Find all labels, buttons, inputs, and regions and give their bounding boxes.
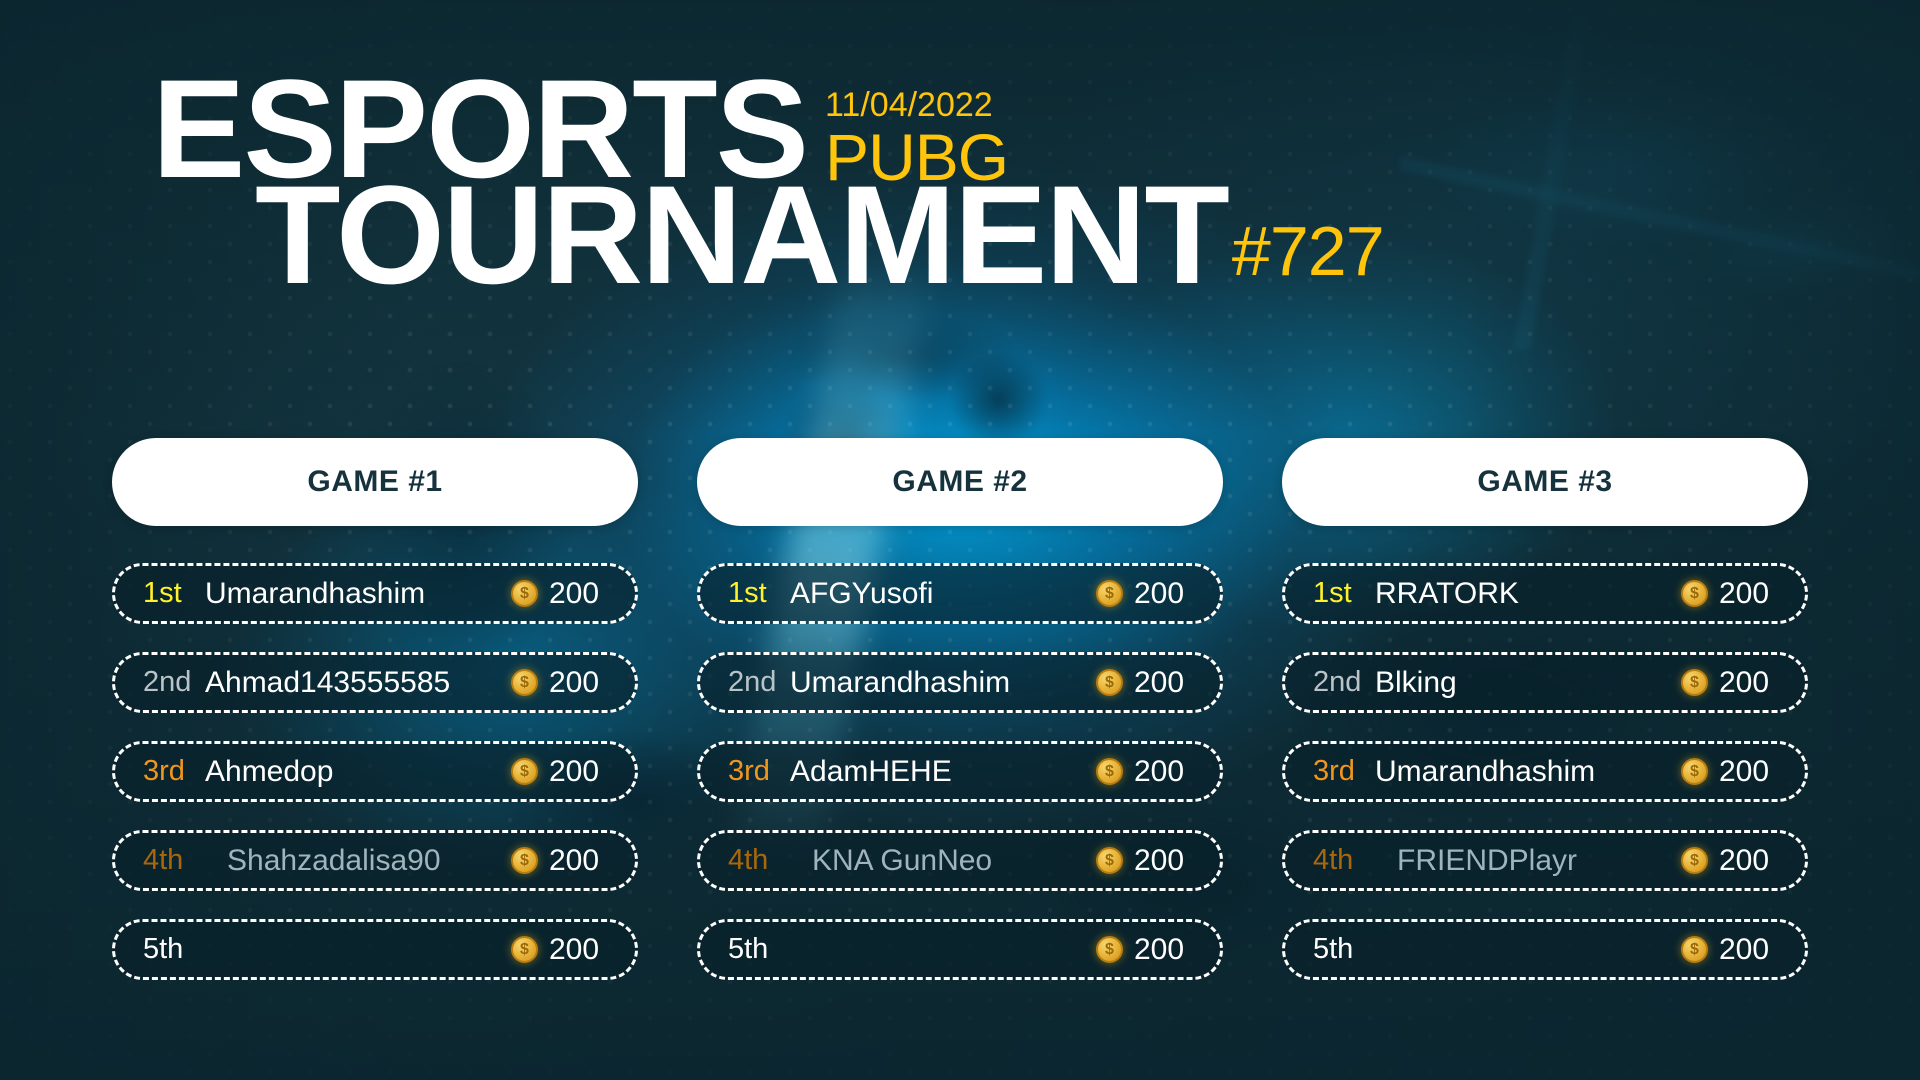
rank-label: 4th <box>728 844 790 877</box>
coin-dollar-icon: $ <box>1096 936 1123 963</box>
leaderboard-row[interactable]: 1stUmarandhashim$200 <box>112 563 638 624</box>
coin-glyph: $ <box>520 853 529 869</box>
coin-glyph: $ <box>1690 586 1699 602</box>
game-header-pill-1[interactable]: GAME #1 <box>112 438 638 526</box>
game-header-label: GAME #2 <box>892 465 1027 499</box>
player-name: Blking <box>1375 666 1681 700</box>
player-name: KNA GunNeo <box>790 844 1096 878</box>
poster-header: ESPORTS 11/04/2022 PUBG TOURNAMENT #727 <box>0 0 1920 360</box>
prize-amount: 200 <box>1719 666 1779 700</box>
coin-glyph: $ <box>1690 675 1699 691</box>
game-header-label: GAME #1 <box>307 465 442 499</box>
coin-dollar-icon: $ <box>511 580 538 607</box>
rank-label: 3rd <box>143 755 205 788</box>
leaderboard-row[interactable]: 2ndBlking$200 <box>1282 652 1808 713</box>
player-name: Umarandhashim <box>1375 755 1681 789</box>
player-name: RRATORK <box>1375 577 1681 611</box>
player-name: FRIENDPlayr <box>1375 844 1681 878</box>
leaderboard-row[interactable]: 2ndUmarandhashim$200 <box>697 652 1223 713</box>
coin-glyph: $ <box>1105 675 1114 691</box>
rank-label: 3rd <box>728 755 790 788</box>
leaderboard-row[interactable]: 3rdUmarandhashim$200 <box>1282 741 1808 802</box>
coin-glyph: $ <box>1105 853 1114 869</box>
coin-dollar-icon: $ <box>1096 847 1123 874</box>
prize-group: $200 <box>1681 577 1779 611</box>
prize-group: $200 <box>1681 755 1779 789</box>
rank-label: 2nd <box>728 666 790 699</box>
rank-label: 1st <box>728 577 790 610</box>
coin-glyph: $ <box>520 586 529 602</box>
rank-label: 4th <box>1313 844 1375 877</box>
coin-dollar-icon: $ <box>1681 580 1708 607</box>
rank-label: 1st <box>1313 577 1375 610</box>
player-name: Umarandhashim <box>205 577 511 611</box>
prize-group: $200 <box>1096 844 1194 878</box>
leaderboard-row[interactable]: 5th$200 <box>1282 919 1808 980</box>
leaderboard-row[interactable]: 4thShahzadalisa90$200 <box>112 830 638 891</box>
coin-glyph: $ <box>1690 942 1699 958</box>
rank-label: 5th <box>1313 933 1375 966</box>
prize-group: $200 <box>1096 666 1194 700</box>
rank-label: 4th <box>143 844 205 877</box>
prize-amount: 200 <box>1719 755 1779 789</box>
rank-label: 3rd <box>1313 755 1375 788</box>
prize-amount: 200 <box>1134 844 1194 878</box>
coin-glyph: $ <box>1690 764 1699 780</box>
prize-amount: 200 <box>1719 577 1779 611</box>
prize-amount: 200 <box>1134 755 1194 789</box>
rank-label: 2nd <box>1313 666 1375 699</box>
player-name: AdamHEHE <box>790 755 1096 789</box>
prize-group: $200 <box>1096 577 1194 611</box>
leaderboard-row[interactable]: 1stAFGYusofi$200 <box>697 563 1223 624</box>
leaderboard-row[interactable]: 5th$200 <box>697 919 1223 980</box>
player-name: Ahmad143555585 <box>205 666 511 700</box>
coin-dollar-icon: $ <box>511 758 538 785</box>
game-header-label: GAME #3 <box>1477 465 1612 499</box>
coin-dollar-icon: $ <box>1681 758 1708 785</box>
prize-group: $200 <box>511 933 609 967</box>
player-name: Shahzadalisa90 <box>205 844 511 878</box>
leaderboard-row[interactable]: 1stRRATORK$200 <box>1282 563 1808 624</box>
prize-amount: 200 <box>1719 844 1779 878</box>
coin-glyph: $ <box>1690 853 1699 869</box>
leaderboard-row[interactable]: 3rdAhmedop$200 <box>112 741 638 802</box>
coin-glyph: $ <box>1105 942 1114 958</box>
coin-glyph: $ <box>520 675 529 691</box>
prize-group: $200 <box>511 844 609 878</box>
prize-group: $200 <box>511 666 609 700</box>
prize-amount: 200 <box>549 755 609 789</box>
rank-label: 5th <box>143 933 205 966</box>
game-columns-container: GAME #11stUmarandhashim$2002ndAhmad14355… <box>0 438 1920 980</box>
title-second-line-group: TOURNAMENT #727 <box>255 168 1384 302</box>
prize-amount: 200 <box>549 666 609 700</box>
prize-group: $200 <box>1681 844 1779 878</box>
coin-dollar-icon: $ <box>511 847 538 874</box>
coin-glyph: $ <box>520 764 529 780</box>
game-column-1: GAME #11stUmarandhashim$2002ndAhmad14355… <box>112 438 638 980</box>
coin-dollar-icon: $ <box>1096 758 1123 785</box>
leaderboard-row[interactable]: 3rdAdamHEHE$200 <box>697 741 1223 802</box>
prize-amount: 200 <box>549 844 609 878</box>
leaderboard-row[interactable]: 2ndAhmad143555585$200 <box>112 652 638 713</box>
tournament-number-badge: #727 <box>1232 216 1384 286</box>
player-name: Umarandhashim <box>790 666 1096 700</box>
leaderboard-row[interactable]: 4thKNA GunNeo$200 <box>697 830 1223 891</box>
prize-amount: 200 <box>1134 666 1194 700</box>
rank-label: 2nd <box>143 666 205 699</box>
prize-group: $200 <box>1096 933 1194 967</box>
coin-dollar-icon: $ <box>1096 580 1123 607</box>
title-word-tournament: TOURNAMENT <box>255 168 1228 302</box>
prize-amount: 200 <box>549 933 609 967</box>
coin-dollar-icon: $ <box>511 936 538 963</box>
prize-group: $200 <box>511 577 609 611</box>
prize-amount: 200 <box>1134 577 1194 611</box>
coin-glyph: $ <box>520 942 529 958</box>
prize-group: $200 <box>1681 666 1779 700</box>
coin-dollar-icon: $ <box>1096 669 1123 696</box>
prize-group: $200 <box>511 755 609 789</box>
prize-group: $200 <box>1096 755 1194 789</box>
coin-dollar-icon: $ <box>1681 847 1708 874</box>
player-name: AFGYusofi <box>790 577 1096 611</box>
coin-dollar-icon: $ <box>511 669 538 696</box>
coin-dollar-icon: $ <box>1681 669 1708 696</box>
event-date: 11/04/2022 <box>825 88 993 122</box>
coin-dollar-icon: $ <box>1681 936 1708 963</box>
esports-tournament-poster: ESPORTS 11/04/2022 PUBG TOURNAMENT #727 … <box>0 0 1920 1080</box>
prize-amount: 200 <box>549 577 609 611</box>
player-name: Ahmedop <box>205 755 511 789</box>
game-header-pill-3[interactable]: GAME #3 <box>1282 438 1808 526</box>
prize-amount: 200 <box>1719 933 1779 967</box>
prize-group: $200 <box>1681 933 1779 967</box>
prize-amount: 200 <box>1134 933 1194 967</box>
rank-label: 5th <box>728 933 790 966</box>
leaderboard-row[interactable]: 5th$200 <box>112 919 638 980</box>
coin-glyph: $ <box>1105 586 1114 602</box>
game-column-2: GAME #21stAFGYusofi$2002ndUmarandhashim$… <box>697 438 1223 980</box>
coin-glyph: $ <box>1105 764 1114 780</box>
game-column-3: GAME #31stRRATORK$2002ndBlking$2003rdUma… <box>1282 438 1808 980</box>
leaderboard-row[interactable]: 4thFRIENDPlayr$200 <box>1282 830 1808 891</box>
game-header-pill-2[interactable]: GAME #2 <box>697 438 1223 526</box>
rank-label: 1st <box>143 577 205 610</box>
